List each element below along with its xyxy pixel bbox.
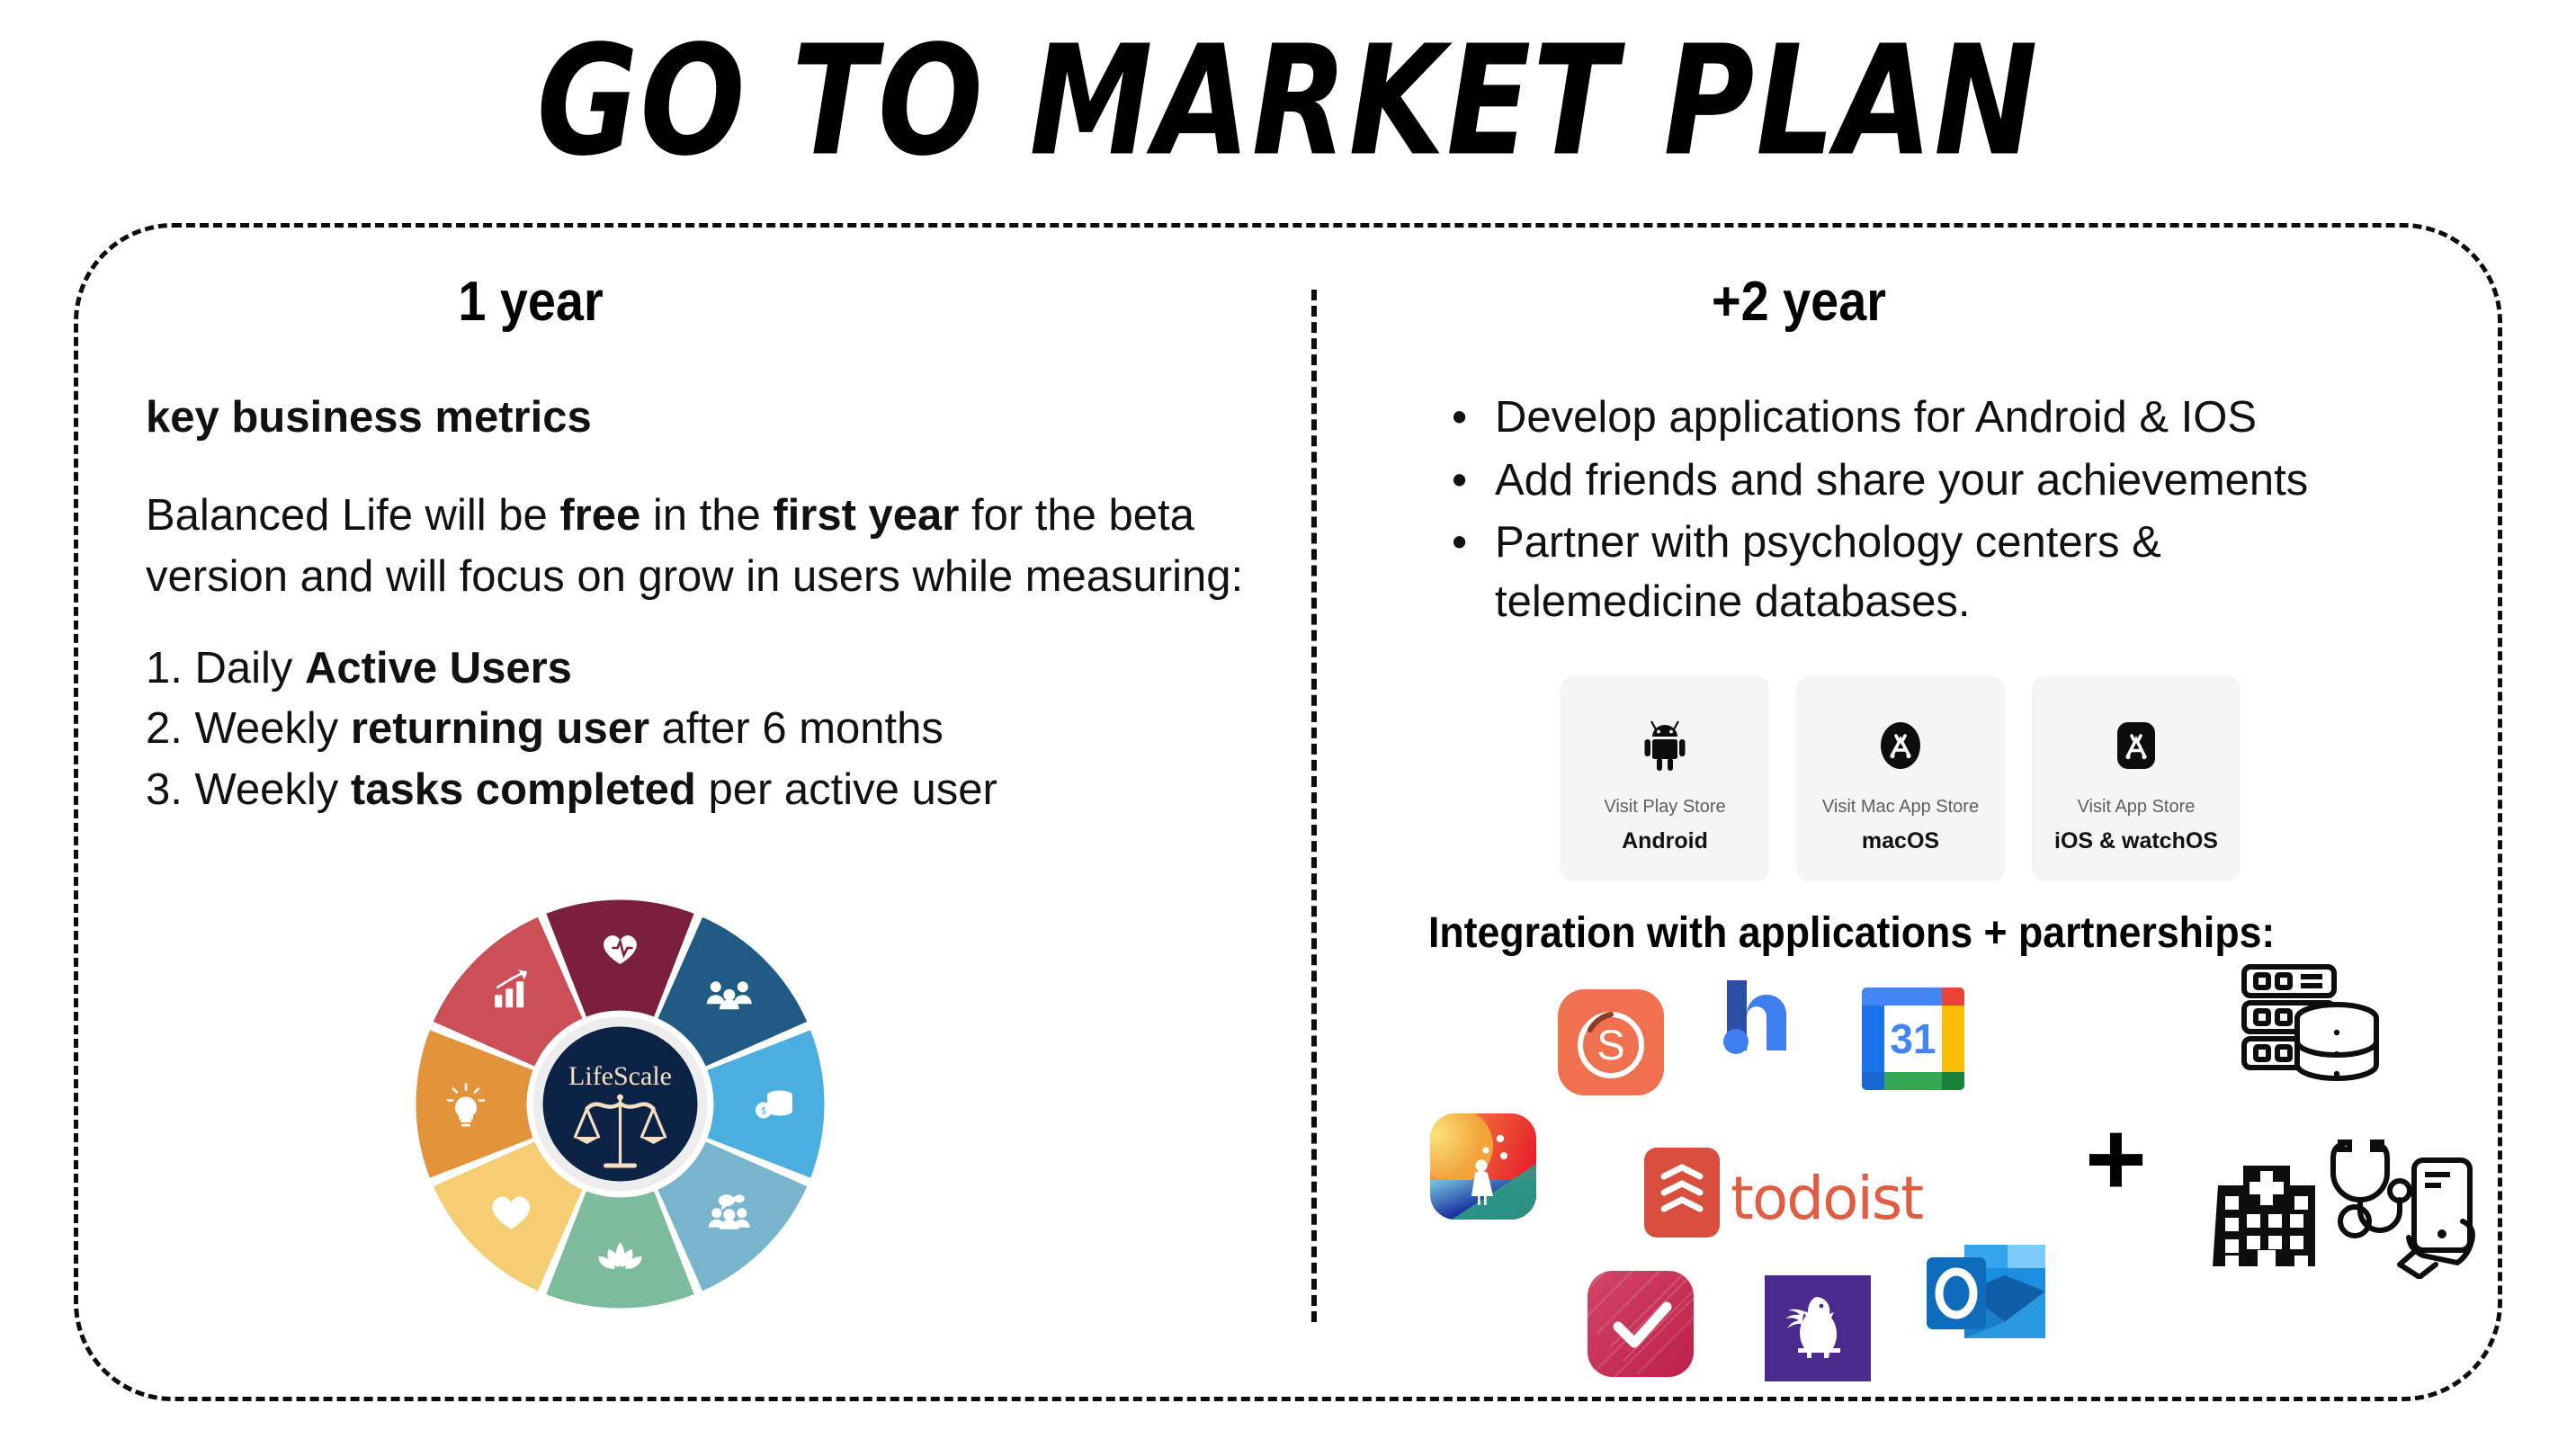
- store-card-android[interactable]: Visit Play Store Android: [1561, 676, 1769, 881]
- beta-pricing-paragraph: Balanced Life will be free in the first …: [146, 485, 1288, 608]
- todoist-wordmark: todoist: [1731, 1169, 1922, 1229]
- plus-symbol: +: [2085, 1106, 2147, 1212]
- store-card-row: Visit Play Store Android: [1561, 676, 2241, 881]
- habitify-app-icon[interactable]: [1718, 975, 1795, 1062]
- integration-heading: Integration with applications + partners…: [1428, 908, 2275, 958]
- list-item: •Partner with psychology centers & telem…: [1439, 514, 2411, 631]
- bullet-marker: •: [1452, 389, 1467, 448]
- column-divider: [1311, 290, 1317, 1322]
- store-platform-label: Android: [1622, 828, 1708, 854]
- store-card-ios[interactable]: Visit App Store iOS & watchOS: [2032, 676, 2241, 881]
- list-item: 3. Weekly tasks completed per active use…: [146, 760, 1288, 821]
- slide-canvas: GO TO MARKET PLAN 1 year key business me…: [0, 0, 2576, 1448]
- metric-prefix: Weekly: [195, 704, 351, 753]
- telemedicine-icon: [2328, 1135, 2490, 1283]
- metric-number: 1.: [146, 644, 183, 693]
- svg-text:S: S: [1597, 1021, 1624, 1068]
- para-part-3: in the: [640, 491, 773, 540]
- list-item: 1. Daily Active Users: [146, 639, 1288, 700]
- store-cta-label: Visit Play Store: [1604, 797, 1725, 818]
- wheel-center-label: LifeScale: [568, 1061, 672, 1091]
- hospital-icon: [2213, 1149, 2321, 1271]
- android-robot-icon: [1641, 714, 1688, 777]
- metric-suffix: after 6 months: [649, 704, 944, 753]
- metric-prefix: Daily: [195, 644, 306, 693]
- google-calendar-icon[interactable]: 31: [1860, 986, 1966, 1096]
- store-cta-label: Visit Mac App Store: [1822, 797, 1979, 818]
- lifescale-wheel-diagram: $: [416, 899, 825, 1309]
- svg-text:31: 31: [1890, 1015, 1936, 1062]
- microsoft-outlook-icon[interactable]: [1925, 1239, 2051, 1352]
- right-column-heading: +2 year: [1661, 270, 1936, 334]
- store-cta-label: Visit App Store: [2078, 797, 2196, 818]
- left-column-body: key business metrics Balanced Life will …: [146, 389, 1288, 821]
- page-title: GO TO MARKET PLAN: [90, 25, 2486, 177]
- left-column-heading: 1 year: [393, 270, 668, 334]
- list-item: •Add friends and share your achievements: [1439, 451, 2411, 511]
- mac-app-store-icon: [1876, 714, 1925, 777]
- bullet-text: Develop applications for Android & IOS: [1495, 393, 2257, 442]
- todoist-icon[interactable]: [1644, 1148, 1720, 1242]
- store-platform-label: macOS: [1862, 828, 1939, 854]
- metric-keyword: returning user: [351, 704, 649, 753]
- metric-number: 2.: [146, 704, 183, 753]
- partnership-icon-group: [2213, 962, 2509, 1322]
- bullet-marker: •: [1452, 451, 1467, 511]
- para-part-free: free: [559, 491, 640, 540]
- metric-prefix: Weekly: [195, 765, 351, 814]
- store-card-macos[interactable]: Visit Mac App Store macOS: [1796, 676, 2005, 881]
- griffin-app-icon[interactable]: [1765, 1275, 1871, 1386]
- ticktick-app-icon[interactable]: [1588, 1271, 1694, 1381]
- todoist-wordmark-text: todoist: [1731, 1169, 1922, 1229]
- metrics-list: 1. Daily Active Users 2. Weekly returnin…: [146, 639, 1288, 821]
- alto-odyssey-app-icon[interactable]: [1430, 1113, 1536, 1224]
- app-logo-cluster: S 31: [1421, 970, 2069, 1347]
- para-part-first-year: first year: [773, 491, 959, 540]
- app-store-icon: [2112, 714, 2160, 777]
- bullet-marker: •: [1452, 514, 1467, 573]
- svg-text:$: $: [761, 1107, 766, 1117]
- structured-app-icon[interactable]: S: [1558, 989, 1664, 1100]
- key-business-metrics-label: key business metrics: [146, 389, 1288, 447]
- bullet-text: Add friends and share your achievements: [1495, 456, 2308, 505]
- list-item: •Develop applications for Android & IOS: [1439, 389, 2411, 448]
- metric-keyword: tasks completed: [351, 765, 696, 814]
- metric-suffix: per active user: [696, 765, 997, 814]
- store-platform-label: iOS & watchOS: [2054, 828, 2218, 854]
- list-item: 2. Weekly returning user after 6 months: [146, 699, 1288, 760]
- metric-number: 3.: [146, 765, 183, 814]
- future-plans-list: •Develop applications for Android & IOS …: [1439, 389, 2411, 636]
- database-server-icon: [2240, 962, 2384, 1102]
- metric-keyword: Active Users: [305, 644, 572, 693]
- bullet-text: Partner with psychology centers & teleme…: [1495, 518, 2161, 626]
- para-part-1: Balanced Life will be: [146, 491, 559, 540]
